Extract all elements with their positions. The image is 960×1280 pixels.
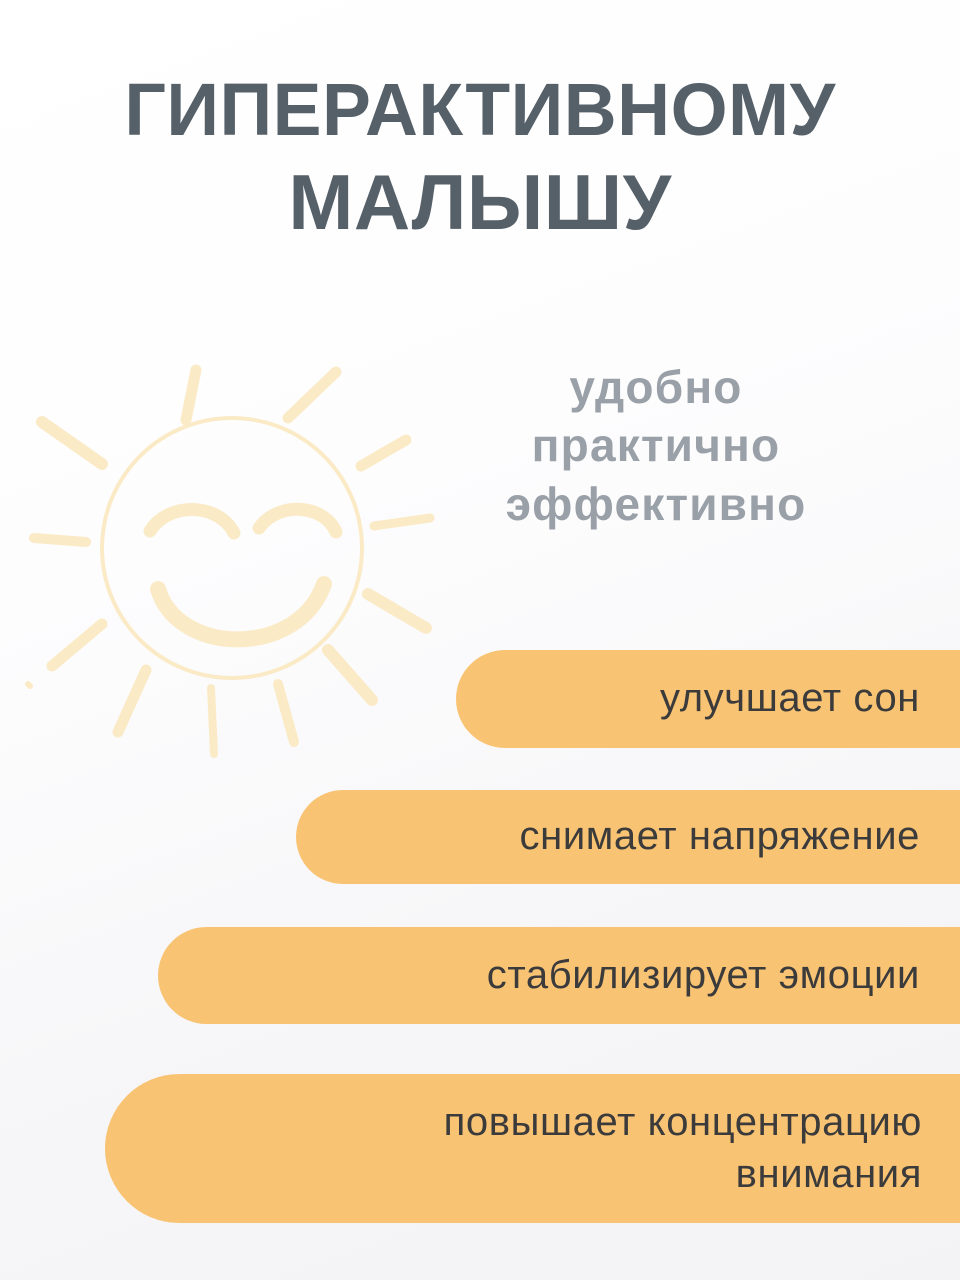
benefit-pill-3[interactable]: стабилизирует эмоции (158, 927, 960, 1024)
benefit-pill-1[interactable]: улучшает сон (456, 650, 960, 748)
subtitle-line-1: удобно (376, 358, 936, 416)
benefit-pill-3-label: стабилизирует эмоции (487, 950, 920, 1001)
benefit-pill-4-label: повышает концентрацию внимания (444, 1097, 922, 1199)
benefit-pill-4[interactable]: повышает концентрацию внимания (105, 1074, 960, 1223)
benefit-pill-2-label: снимает напряжение (520, 811, 920, 862)
subtitle-block: удобно практично эффективно (376, 358, 936, 533)
benefit-pill-4-label-line-2: внимания (444, 1149, 922, 1200)
subtitle-line-3: эффективно (376, 475, 936, 533)
poster-canvas: ГИПЕРАКТИВНОМУ МАЛЫШУ (0, 0, 960, 1280)
subtitle-line-2: практично (376, 416, 936, 474)
benefit-pill-2[interactable]: снимает напряжение (296, 790, 960, 884)
benefit-pill-1-label: улучшает сон (660, 673, 920, 724)
page-title-line-1: ГИПЕРАКТИВНОМУ (5, 72, 955, 148)
page-title: ГИПЕРАКТИВНОМУ МАЛЫШУ (0, 72, 960, 243)
page-title-line-2: МАЛЫШУ (0, 162, 960, 242)
benefit-pill-4-label-line-1: повышает концентрацию (444, 1097, 922, 1148)
